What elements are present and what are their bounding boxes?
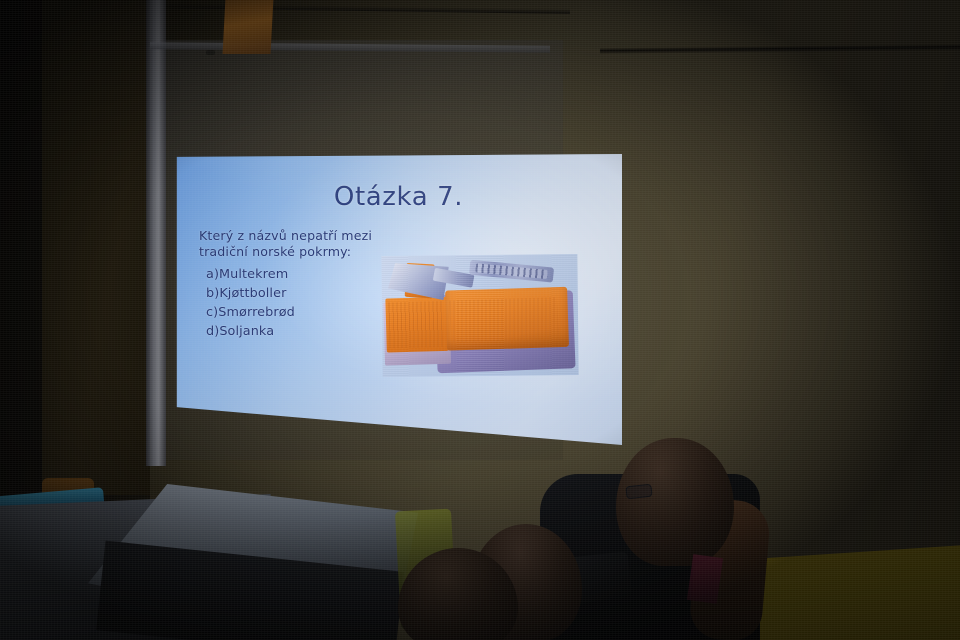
cheese-block [445,287,569,351]
cheese-slicer-handle [469,260,554,283]
projected-slide: Otázka 7. Který z názvů nepatří mezi tra… [175,154,622,445]
whiteboard-frame-left [146,0,166,466]
paper-poster [223,0,274,54]
slide-title: Otázka 7. [175,182,622,212]
question-prompt: Který z názvů nepatří mezi tradiční nors… [199,228,404,260]
question-prompt-line-2: tradiční norské pokrmy: [199,244,404,260]
classroom-photo-scene: Otázka 7. Který z názvů nepatří mezi tra… [0,0,960,640]
answer-option-c: c)Smørrebrød [199,303,404,322]
glasses-icon [625,484,652,500]
answer-option-a: a)Multekrem [199,265,404,284]
pupil-right-head [616,438,734,566]
pupil-right-shirt-accent [687,554,723,604]
slide-photo-brown-cheese [381,254,578,377]
answer-option-b: b)Kjøttboller [199,284,404,303]
left-wall-panel [42,0,150,495]
answer-option-d: d)Soljanka [199,322,404,341]
board-clip [206,50,215,55]
question-prompt-line-1: Který z názvů nepatří mezi [199,228,404,244]
cheese-on-bread [385,297,448,353]
slide-body: Který z názvů nepatří mezi tradiční nors… [199,228,404,341]
